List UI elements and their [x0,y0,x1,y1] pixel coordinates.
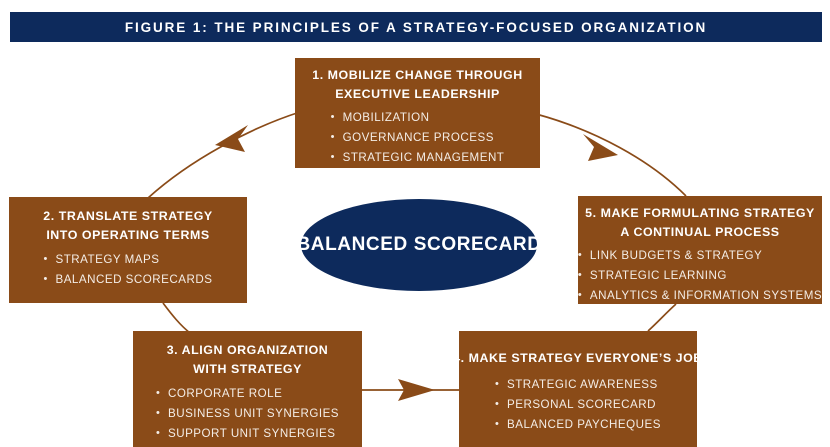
node-4-bullet-list: STRATEGIC AWARENESS PERSONAL SCORECARD B… [495,375,661,435]
node-3-bullet: BUSINESS UNIT SYNERGIES [156,404,339,424]
connector-3-to-4 [362,379,459,401]
node-1-bullet: STRATEGIC MANAGEMENT [331,148,505,168]
node-5-heading-line-1: 5. MAKE FORMULATING STRATEGY [585,204,815,223]
node-2-heading-line-2: INTO OPERATING TERMS [46,226,209,245]
figure-container: FIGURE 1: THE PRINCIPLES OF A STRATEGY-F… [0,0,830,447]
node-4-bullet: BALANCED PAYCHEQUES [495,415,661,435]
node-2-bullet-list: STRATEGY MAPS BALANCED SCORECARDS [43,250,212,290]
node-5-heading-line-2: A CONTINUAL PROCESS [620,223,779,242]
connector-2-to-3 [163,303,190,333]
connector-2-to-1 [148,112,300,198]
node-3-bullet: CORPORATE ROLE [156,384,339,404]
node-2-bullet: BALANCED SCORECARDS [43,270,212,290]
node-5-bullet: STRATEGIC LEARNING [578,266,822,286]
node-3-heading-line-2: WITH STRATEGY [193,360,302,379]
connector-4-to-5 [648,304,676,331]
node-2-heading-line-1: 2. TRANSLATE STRATEGY [43,207,212,226]
balanced-scorecard-ellipse[interactable]: BALANCED SCORECARD [301,199,537,291]
node-4-heading-line-1: 4. MAKE STRATEGY EVERYONE’S JOB [453,349,703,368]
node-3-bullet-list: CORPORATE ROLE BUSINESS UNIT SYNERGIES S… [156,384,339,444]
node-3-bullet: SUPPORT UNIT SYNERGIES [156,424,339,444]
node-5-bullet: ANALYTICS & INFORMATION SYSTEMS [578,286,822,306]
node-1-bullet: GOVERNANCE PROCESS [331,128,505,148]
node-1-heading-line-2: EXECUTIVE LEADERSHIP [335,85,500,104]
node-box-2[interactable]: 2. TRANSLATE STRATEGY INTO OPERATING TER… [9,197,247,303]
node-5-bullet-list: LINK BUDGETS & STRATEGY STRATEGIC LEARNI… [578,246,822,306]
node-1-bullet-list: MOBILIZATION GOVERNANCE PROCESS STRATEGI… [331,108,505,168]
node-3-heading-line-1: 3. ALIGN ORGANIZATION [167,341,329,360]
node-box-3[interactable]: 3. ALIGN ORGANIZATION WITH STRATEGY CORP… [133,331,362,447]
balanced-scorecard-label: BALANCED SCORECARD [296,234,541,256]
node-1-heading-line-1: 1. MOBILIZE CHANGE THROUGH [312,66,523,85]
node-box-1[interactable]: 1. MOBILIZE CHANGE THROUGH EXECUTIVE LEA… [295,58,540,168]
node-box-5[interactable]: 5. MAKE FORMULATING STRATEGY A CONTINUAL… [578,196,822,304]
node-4-bullet: PERSONAL SCORECARD [495,395,661,415]
node-1-bullet: MOBILIZATION [331,108,505,128]
node-box-4[interactable]: 4. MAKE STRATEGY EVERYONE’S JOB STRATEGI… [459,331,697,447]
node-5-bullet: LINK BUDGETS & STRATEGY [578,246,822,266]
node-4-bullet: STRATEGIC AWARENESS [495,375,661,395]
node-2-bullet: STRATEGY MAPS [43,250,212,270]
connector-5-to-1 [536,114,686,196]
